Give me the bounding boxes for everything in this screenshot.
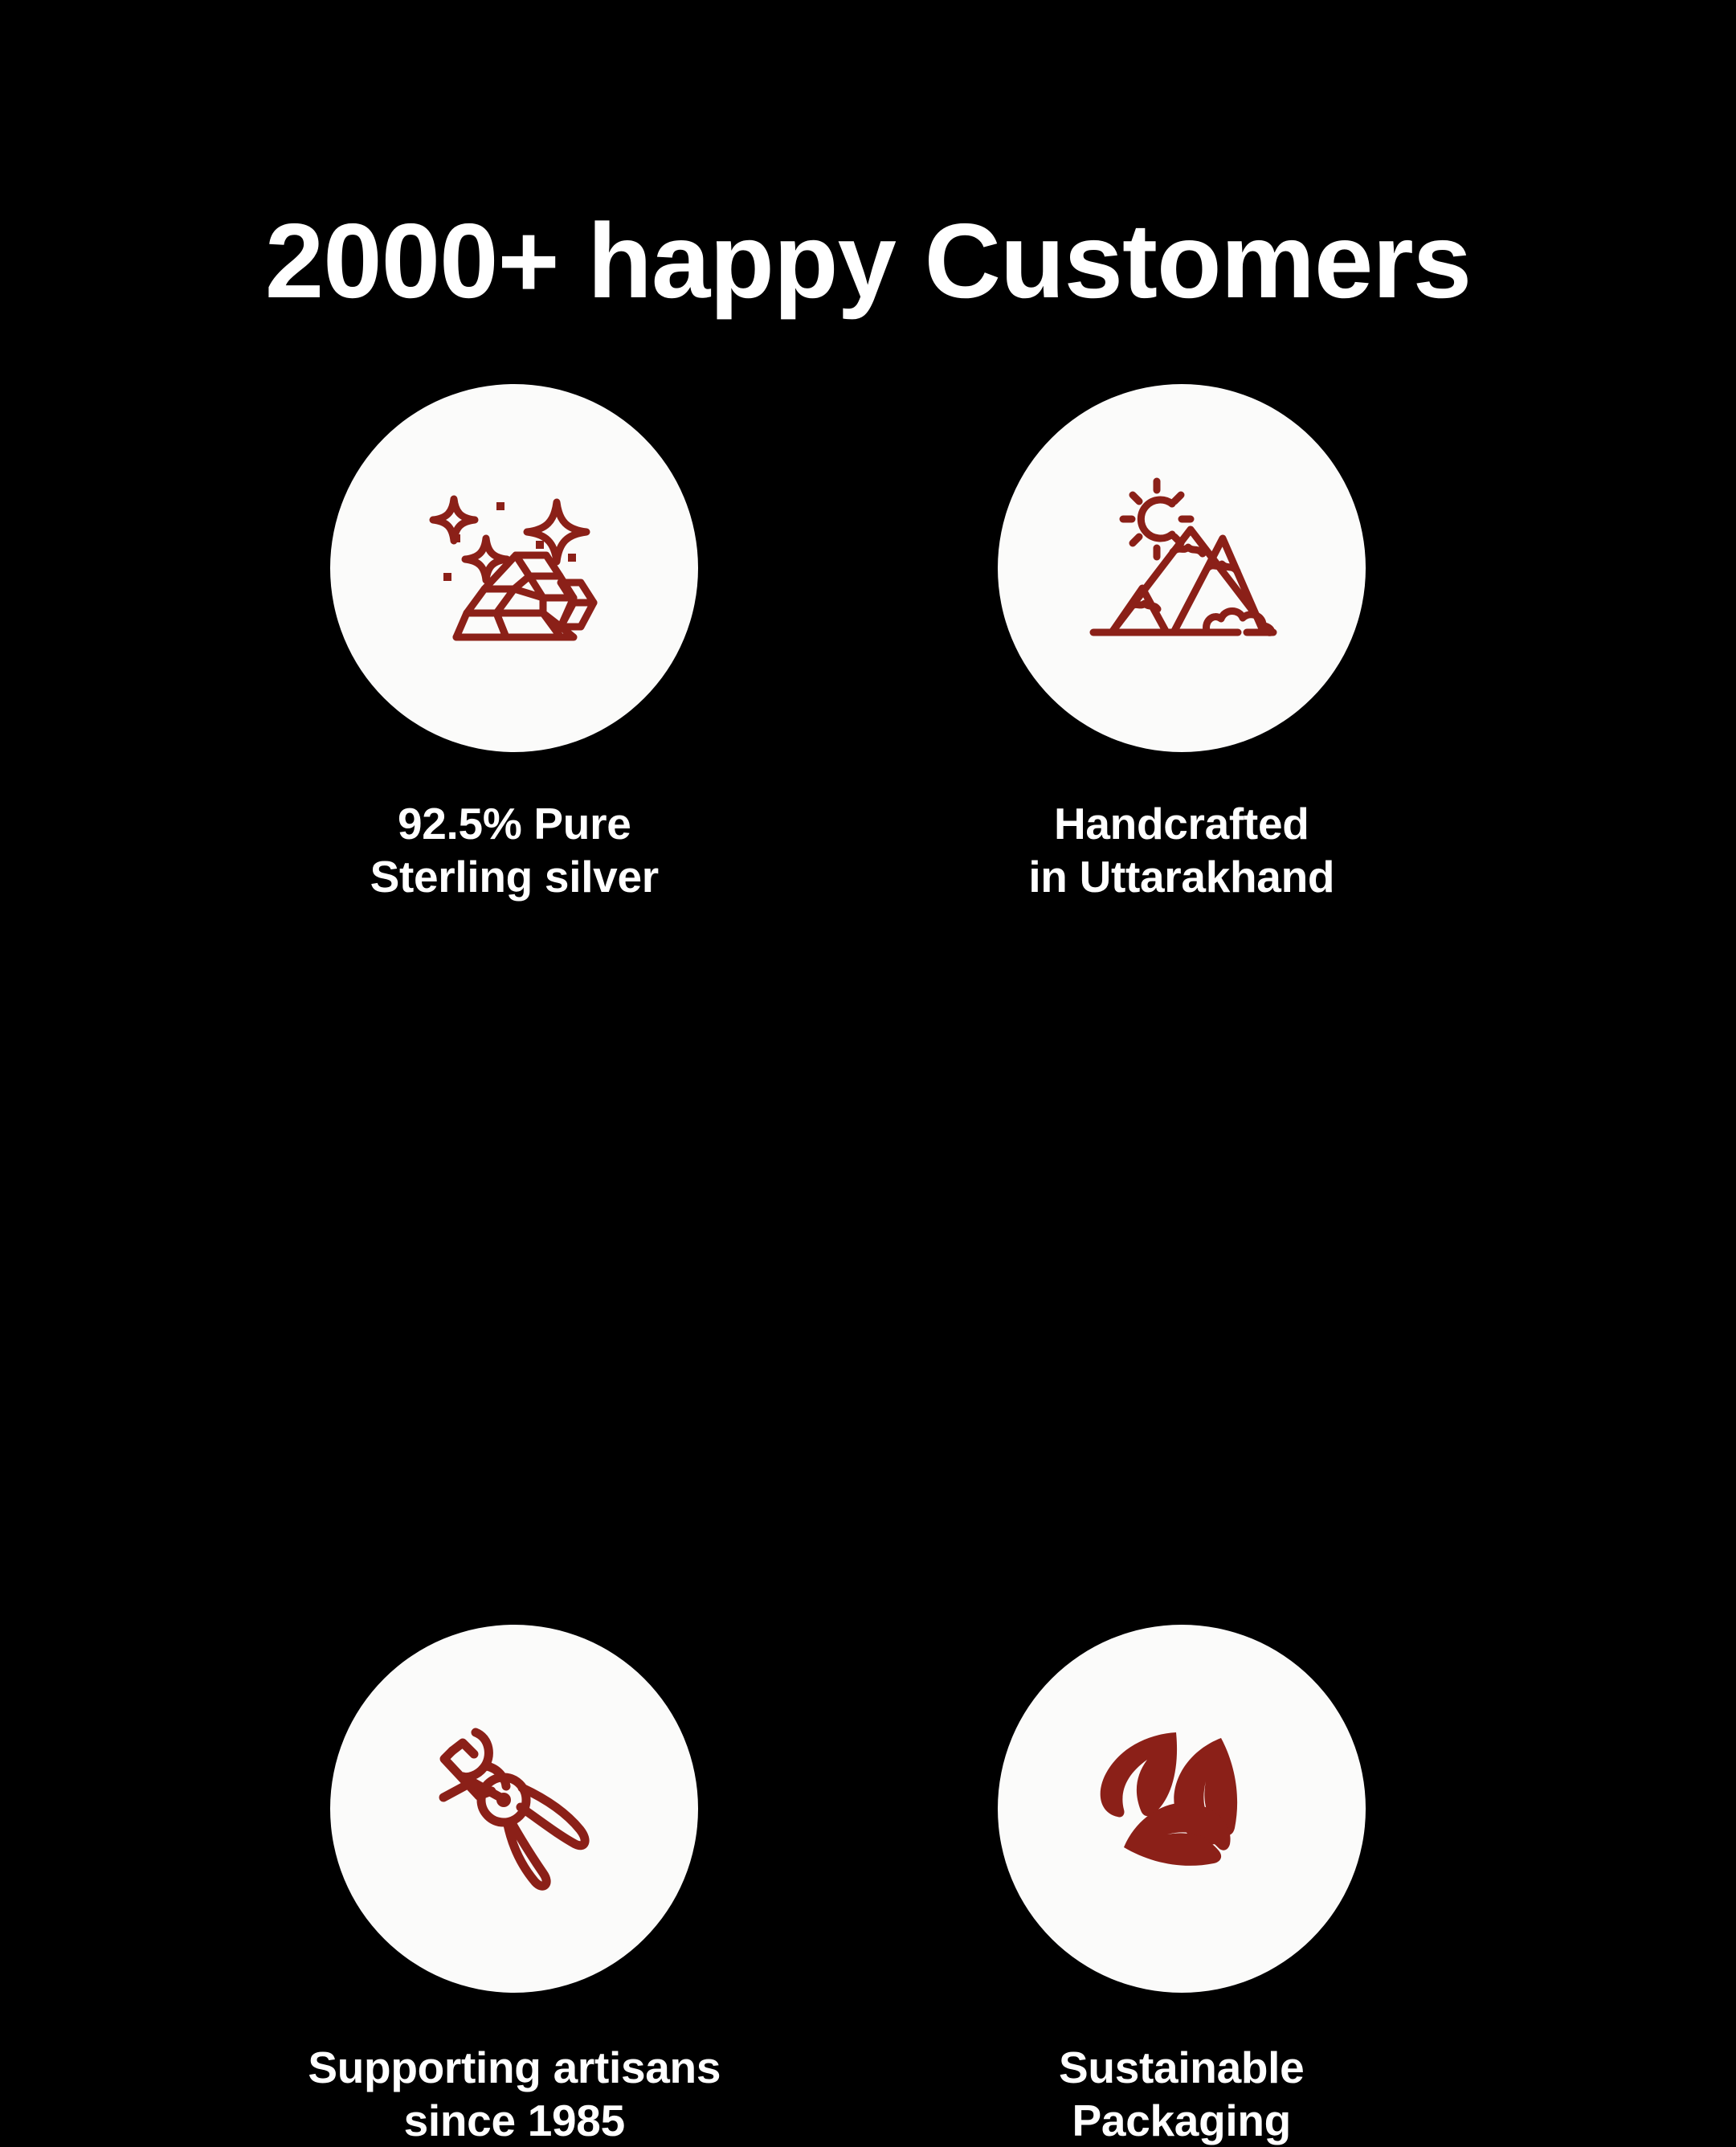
badge-label: 92.5% Pure Sterling silver <box>370 797 659 903</box>
badge-circle <box>330 384 698 752</box>
page-title: 2000+ happy Customers <box>0 206 1736 317</box>
mountains-sun-icon <box>1061 448 1302 689</box>
feature-badge-artisans: Supporting artisans since 1985 <box>180 903 849 2147</box>
jewelers-pliers-icon <box>394 1688 635 1929</box>
three-leaves-recycle-icon <box>1061 1688 1302 1929</box>
feature-badge-handcrafted: Handcrafted in Uttarakhand <box>848 362 1517 903</box>
feature-badge-grid: 92.5% Pure Sterling silver <box>199 362 1537 1647</box>
badge-circle <box>330 1625 698 1993</box>
promo-poster: 2000+ happy Customers <box>0 0 1736 1736</box>
badge-label: Supporting artisans since 1985 <box>308 2041 721 2147</box>
badge-label: Handcrafted in Uttarakhand <box>1028 797 1334 903</box>
feature-badge-sustainable-packaging: Sustainable Packaging <box>848 903 1517 2147</box>
badge-label: Sustainable Packaging <box>1059 2041 1304 2147</box>
silver-bars-sparkle-icon <box>394 448 635 689</box>
badge-circle <box>998 384 1366 752</box>
badge-circle <box>998 1625 1366 1993</box>
feature-badge-sterling-silver: 92.5% Pure Sterling silver <box>180 362 849 903</box>
